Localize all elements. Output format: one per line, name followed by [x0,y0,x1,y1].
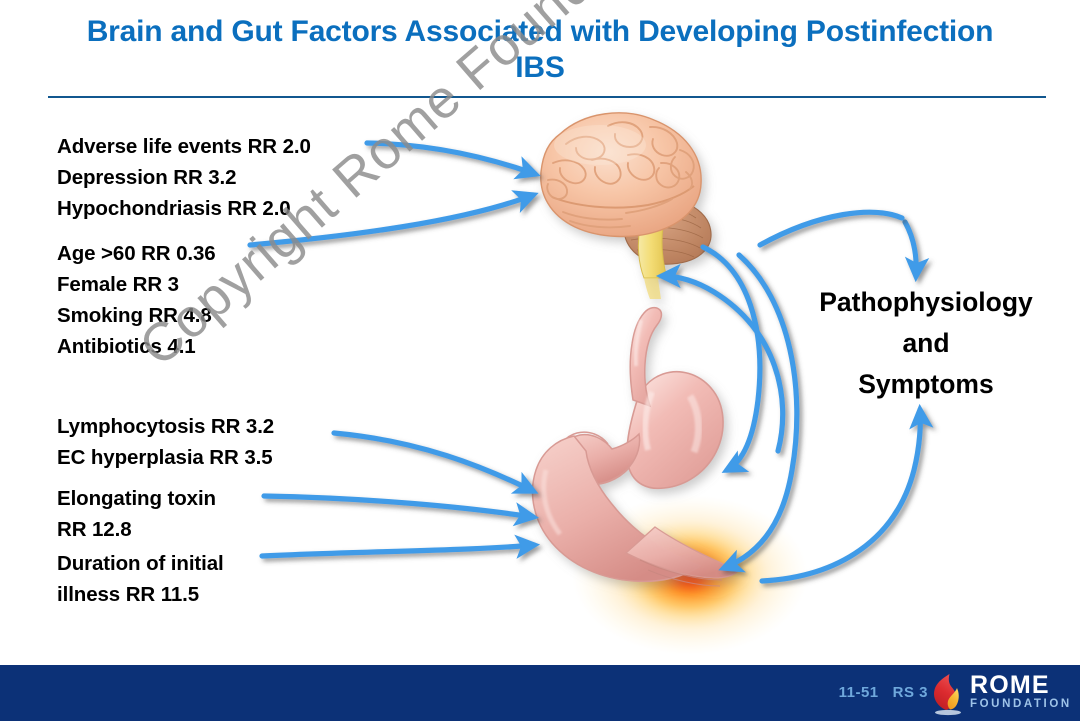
arrow-toxin-to-gut [264,496,533,517]
logo-primary-text: ROME [970,673,1072,698]
illness-duration-factor-text: Duration of initial illness RR 11.5 [57,548,224,610]
arrow-illness-to-gut [262,545,534,556]
slide-code: 11-51 RS 3 [839,684,928,701]
mucosal-factors-text: Lymphocytosis RR 3.2 EC hyperplasia RR 3… [57,411,274,473]
rome-logo-wordmark: ROME FOUNDATION [970,673,1072,711]
cerebrum [541,113,701,237]
inflammation-glow [572,495,808,655]
title-divider [48,96,1046,98]
logo-secondary-text: FOUNDATION [970,698,1072,711]
footer-bar: 11-51 RS 3 [0,665,1080,721]
brainstem [638,226,667,299]
rome-foundation-logo: ROME FOUNDATION [926,669,1072,717]
arrow-mucosal-to-gut [334,433,533,491]
stomach-illustration [533,308,738,586]
arrow-gut-to-brain [662,276,783,451]
brain-illustration [541,113,711,299]
cerebellum [624,198,711,265]
slide-canvas: Brain and Gut Factors Associated with De… [0,0,1080,721]
arrow-top-right-connector [760,212,902,245]
arrow-gut-to-outcome [762,410,920,581]
toxin-factor-text: Elongating toxin RR 12.8 [57,483,216,545]
arrow-brain-to-gut [703,247,760,470]
arrow-brain-to-outcome [905,222,916,276]
outcome-label: Pathophysiology and Symptoms [782,282,1070,405]
